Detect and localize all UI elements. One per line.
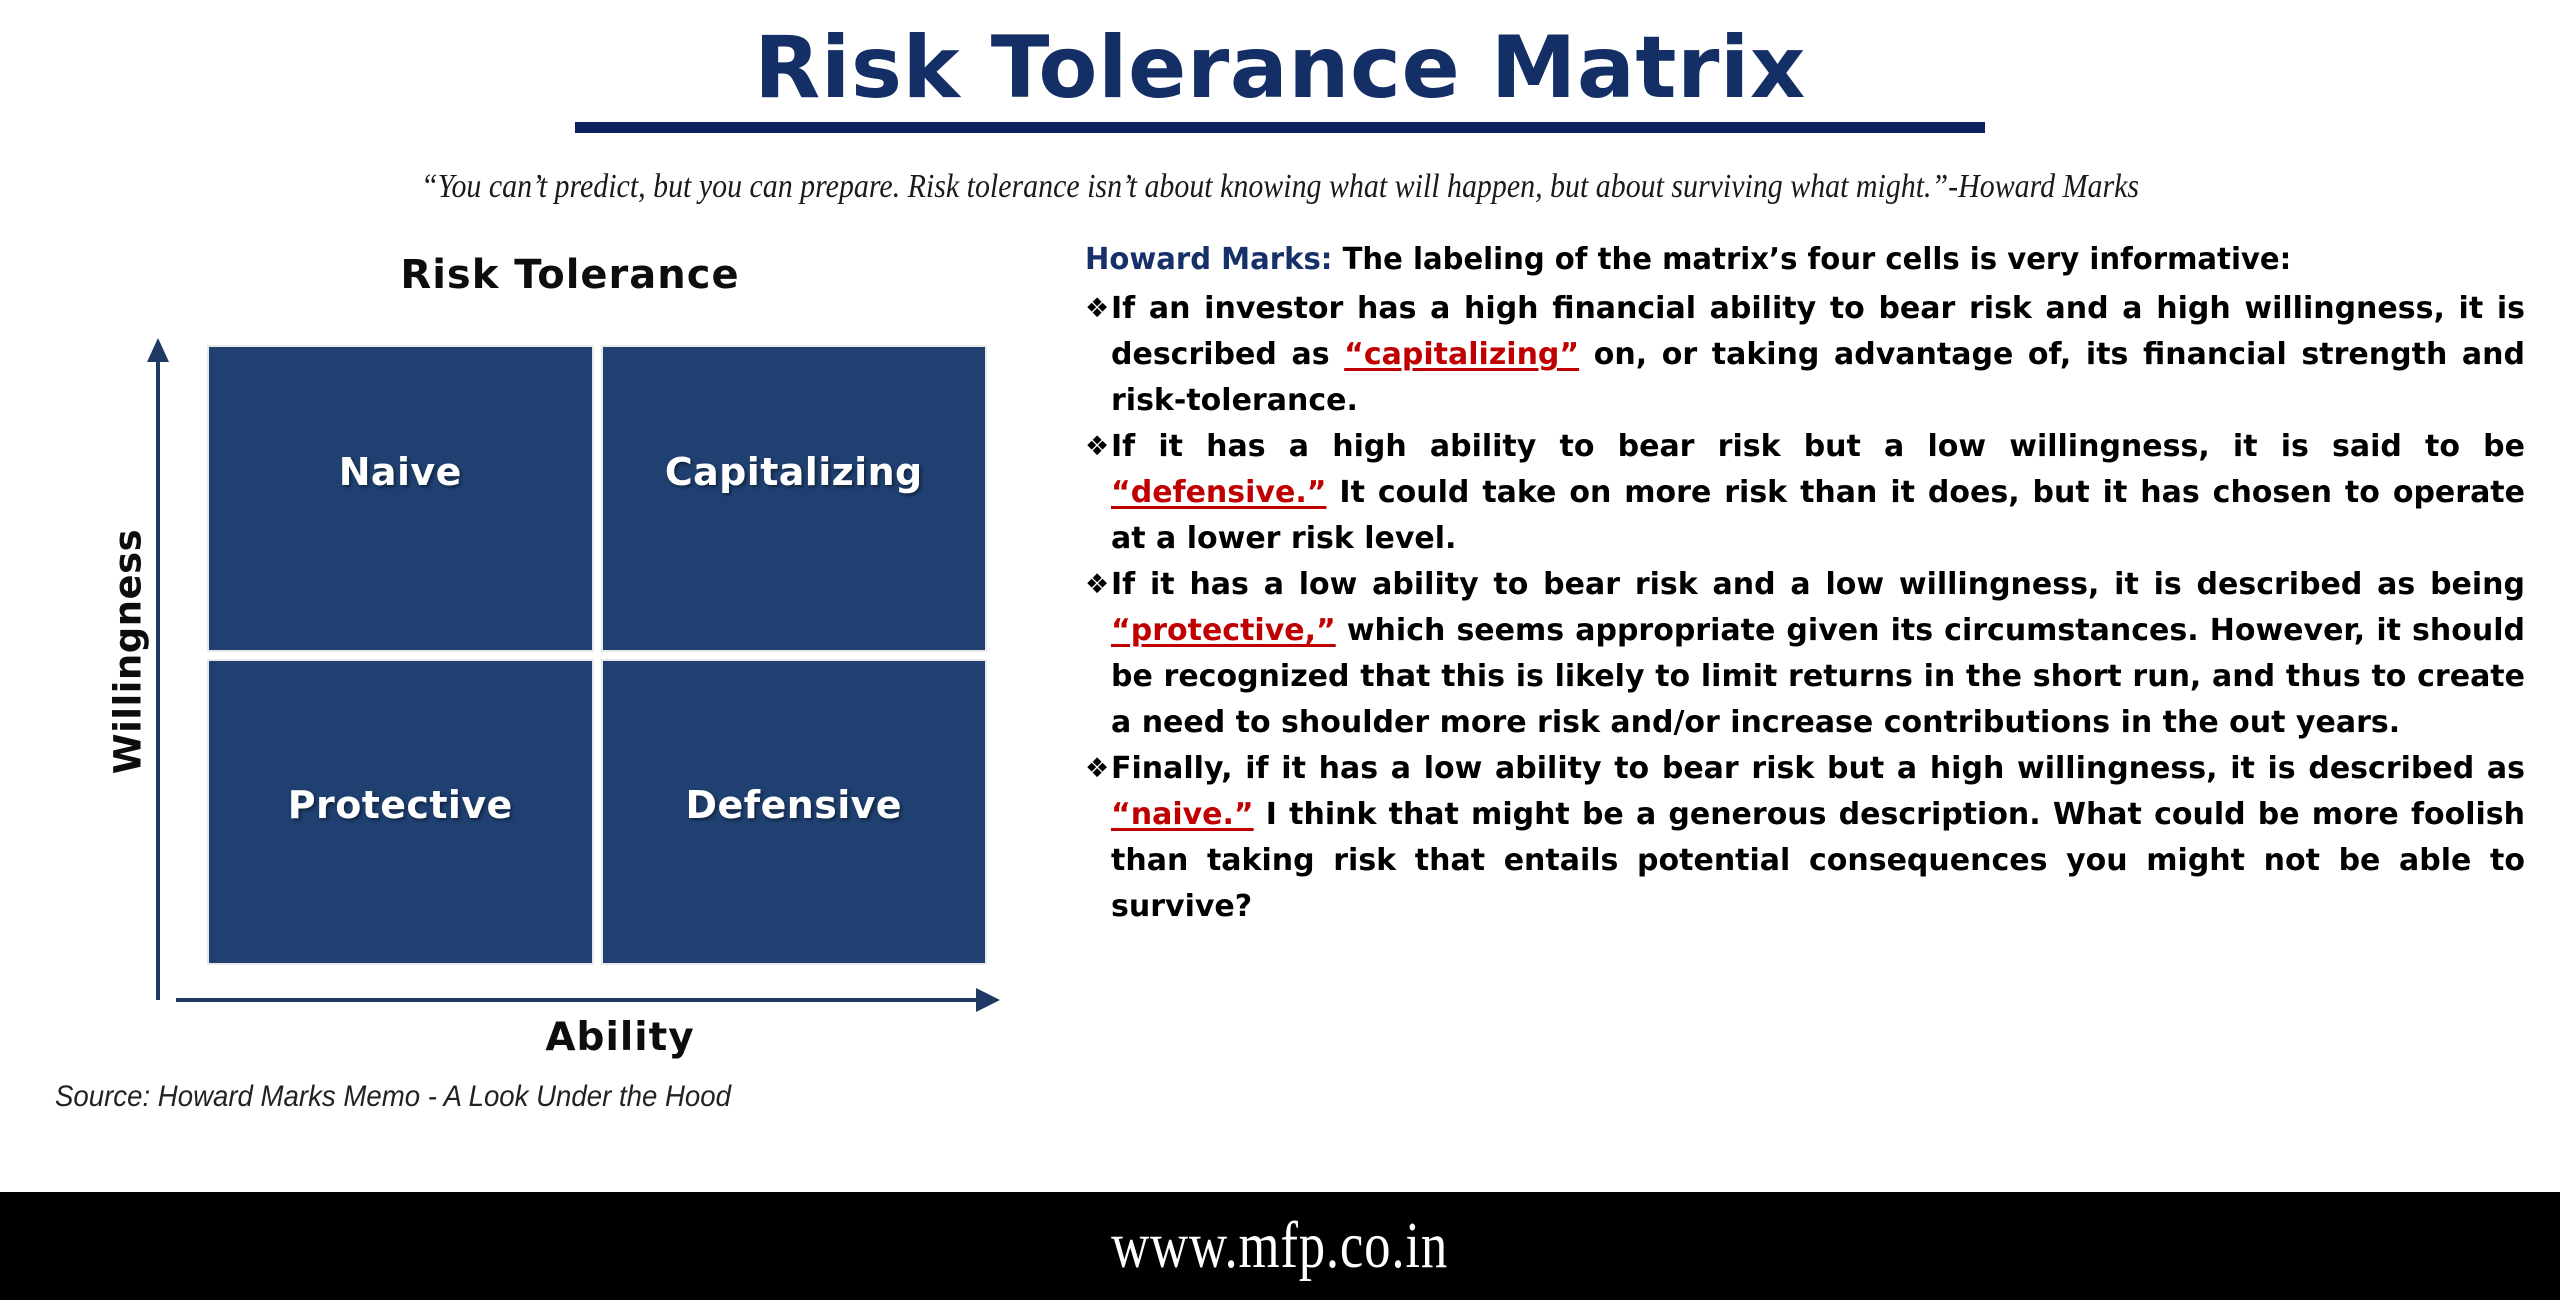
source-note: Source: Howard Marks Memo - A Look Under… — [55, 1080, 731, 1114]
footer-bar: www.mfp.co.in — [0, 1192, 2560, 1300]
diamond-bullet-icon: ❖ — [1085, 746, 1111, 792]
bullet-pre-text: If it has a low ability to bear risk and… — [1111, 567, 2525, 602]
commentary-intro: Howard Marks: The labeling of the matrix… — [1085, 240, 2482, 280]
quadrant-capitalizing[interactable]: Capitalizing — [601, 345, 988, 652]
quadrant-defensive[interactable]: Defensive — [601, 659, 988, 966]
x-axis-line — [176, 998, 981, 1002]
bullet-pre-text: If it has a high ability to bear risk bu… — [1111, 429, 2525, 464]
commentary-column: Howard Marks: The labeling of the matrix… — [1085, 240, 2525, 930]
speaker-name: Howard Marks: — [1085, 242, 1332, 277]
quadrant-label: Protective — [288, 783, 513, 827]
bullet-post-text: I think that might be a generous descrip… — [1111, 797, 2525, 924]
page-title: Risk Tolerance Matrix — [0, 0, 2560, 128]
y-axis-line — [156, 355, 160, 1000]
bullet-text-defensive: If it has a high ability to bear risk bu… — [1111, 424, 2525, 562]
headline-quote: “You can’t predict, but you can prepare.… — [154, 168, 2407, 206]
bullet-text-naive: Finally, if it has a low ability to bear… — [1111, 746, 2525, 930]
quadrant-naive[interactable]: Naive — [207, 345, 594, 652]
diamond-bullet-icon: ❖ — [1085, 424, 1111, 470]
quadrant-label: Capitalizing — [665, 450, 923, 494]
bullet-text-protective: If it has a low ability to bear risk and… — [1111, 562, 2525, 746]
diamond-bullet-icon: ❖ — [1085, 286, 1111, 332]
highlight-term-capitalizing: “capitalizing” — [1344, 337, 1579, 372]
highlight-term-defensive: “defensive.” — [1111, 475, 1326, 510]
x-axis-label: Ability — [220, 1015, 1020, 1060]
highlight-term-protective: “protective,” — [1111, 613, 1336, 648]
risk-tolerance-matrix-panel: Risk Tolerance Willingness Naive Capital… — [60, 240, 1070, 1140]
footer-website-url[interactable]: www.mfp.co.in — [1112, 1208, 1449, 1284]
quadrant-protective[interactable]: Protective — [207, 659, 594, 966]
matrix-heading: Risk Tolerance — [220, 252, 920, 298]
list-item: ❖ If an investor has a high financial ab… — [1085, 286, 2525, 424]
list-item: ❖ If it has a high ability to bear risk … — [1085, 424, 2525, 562]
diamond-bullet-icon: ❖ — [1085, 562, 1111, 608]
title-block: Risk Tolerance Matrix — [0, 0, 2560, 133]
x-axis-arrowhead-icon — [976, 988, 1000, 1012]
quadrant-label: Defensive — [686, 783, 902, 827]
quadrant-label: Naive — [339, 450, 462, 494]
matrix-quadrant-grid: Naive Capitalizing Protective Defensive — [207, 345, 987, 965]
list-item: ❖ If it has a low ability to bear risk a… — [1085, 562, 2525, 746]
commentary-intro-text: The labeling of the matrix’s four cells … — [1332, 242, 2291, 277]
list-item: ❖ Finally, if it has a low ability to be… — [1085, 746, 2525, 930]
highlight-term-naive: “naive.” — [1111, 797, 1254, 832]
y-axis-label: Willingness — [107, 492, 150, 812]
bullet-pre-text: Finally, if it has a low ability to bear… — [1111, 751, 2525, 786]
bullet-text-capitalizing: If an investor has a high financial abil… — [1111, 286, 2525, 424]
